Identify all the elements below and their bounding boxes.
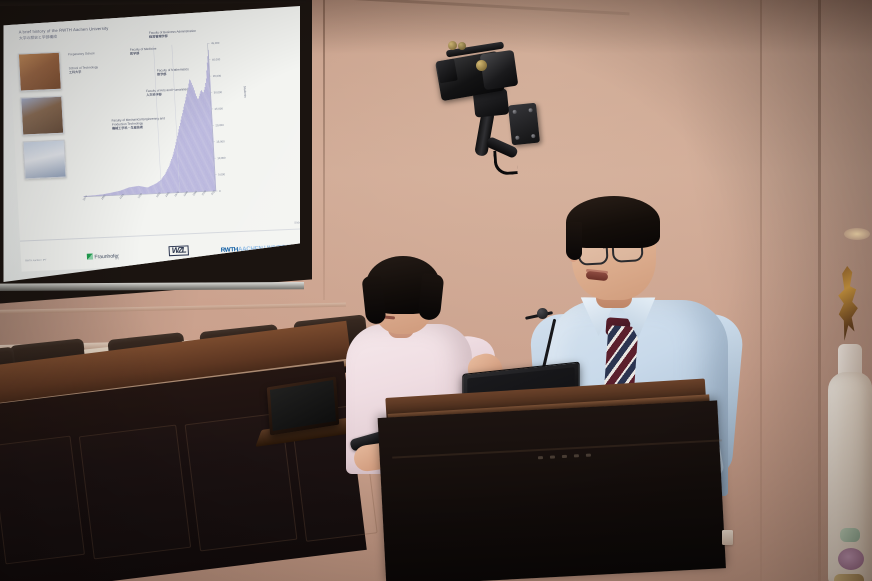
decorative-niche [826,224,872,581]
screen-surface: A brief history of the RWTH Aachen Unive… [2,6,300,282]
svg-text:0: 0 [219,189,221,193]
svg-text:40,000: 40,000 [212,57,221,61]
camera-cable [493,149,518,176]
podium-front-panel [378,400,726,581]
podium-microphone-head-icon [537,308,548,319]
chart-ylabel: Students [242,86,246,98]
dais-panel-1 [0,436,85,565]
projection-screen: A brief history of the RWTH Aachen Unive… [0,0,312,304]
wall-seam-niche [818,0,821,581]
svg-text:35,000: 35,000 [213,74,222,78]
vase-motif-2 [834,574,864,581]
photo-historic-stone-building [18,52,62,92]
svg-text:30,000: 30,000 [214,90,223,94]
photo-brick-institute-building [20,96,64,136]
chart-canvas: 05,00010,00015,00020,00025,00030,00035,0… [69,36,250,219]
fraunhofer-logo: Fraunhofer IPT [87,252,119,261]
svg-text:10,000: 10,000 [217,156,226,160]
vase-motif-5 [840,528,860,542]
presentation-slide: A brief history of the RWTH Aachen Unive… [8,7,300,271]
dais-panel-2 [79,424,191,559]
camera-lens-hood [480,50,519,90]
dais-laptop-screen [270,380,336,431]
vase-motif-1 [838,548,864,570]
speaker-hair-sideburn [566,222,582,260]
svg-text:15,000: 15,000 [216,139,225,143]
camera-control-knob [476,60,487,71]
niche-spotlight [844,228,870,240]
presentation-photo-scene: A brief history of the RWTH Aachen Unive… [0,0,872,581]
svg-text:20,000: 20,000 [215,123,224,127]
fraunhofer-mark-icon [87,253,93,259]
svg-text:45,000: 45,000 [211,41,220,45]
slide-photo-column [18,52,65,186]
svg-text:5,000: 5,000 [218,172,225,176]
svg-text:25,000: 25,000 [214,106,223,110]
wall-mounted-video-camera [432,38,564,178]
camera-microphone-right-icon [458,42,466,50]
svg-text:1870: 1870 [81,194,88,201]
seated-colleague-hair-right [418,273,445,321]
slide-number: Slide 2 [294,222,300,226]
wall-seam-left [323,0,325,300]
camera-wall-bracket [508,103,540,146]
wall-seam-right [760,0,762,581]
gold-wall-ornament [836,266,864,344]
decorative-porcelain-vase [828,372,872,581]
slide-footer-note: RWTH Aachen / IPT [25,259,47,263]
photo-modern-glass-building [23,140,67,180]
speaker-podium [386,392,738,581]
wzl-logo: WZL [168,245,188,256]
wall-power-outlet [722,530,733,545]
enrollment-area-chart: 05,00010,00015,00020,00025,00030,00035,0… [69,36,250,219]
camera-viewfinder [436,59,458,84]
